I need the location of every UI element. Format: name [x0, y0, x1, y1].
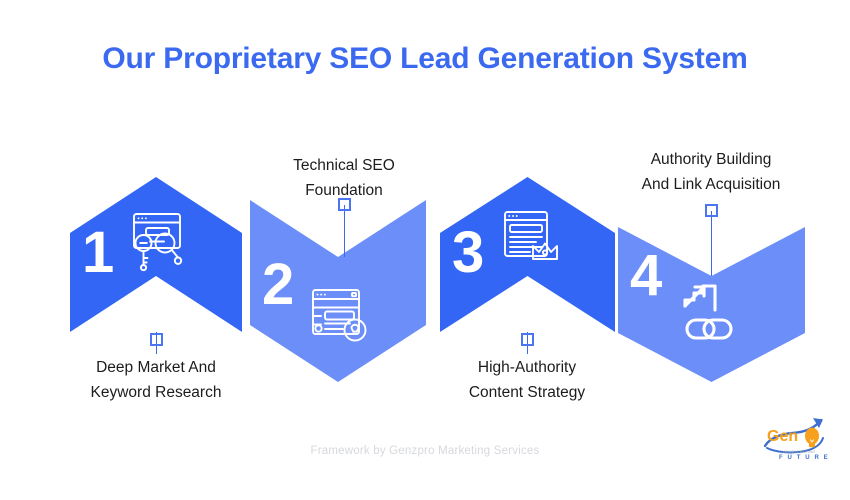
step-caption-2: Technical SEO Foundation — [224, 153, 464, 203]
step-number-3: 3 — [452, 224, 484, 282]
step-caption-3-line2: Content Strategy — [407, 380, 647, 405]
step-caption-2-line1: Technical SEO — [224, 153, 464, 178]
connector-cap-3 — [521, 333, 534, 346]
step-caption-4-line2: And Link Acquisition — [591, 172, 831, 197]
connector-line-4 — [711, 211, 712, 276]
step-caption-4-line1: Authority Building — [591, 147, 831, 172]
genzpro-logo: Gen ACCELERATING F U T U R E — [753, 408, 841, 464]
browser-key-magnifier-icon — [125, 210, 189, 274]
logo-tagline-text: ACCELERATING — [783, 450, 816, 454]
step-number-2: 2 — [262, 256, 294, 314]
step-3: 3 — [440, 177, 615, 332]
connector-cap-1 — [150, 333, 163, 346]
step-number-1: 1 — [82, 224, 114, 282]
step-caption-1-line2: Keyword Research — [36, 380, 276, 405]
footer-note: Framework by Genzpro Marketing Services — [0, 445, 850, 457]
step-caption-1: Deep Market And Keyword Research — [36, 355, 276, 405]
connector-cap-4 — [705, 204, 718, 217]
page-title: Our Proprietary SEO Lead Generation Syst… — [0, 42, 850, 76]
step-1: 1 — [70, 177, 242, 332]
logo-wordmark-text: F U T U R E — [779, 455, 829, 461]
article-crown-icon — [498, 207, 562, 271]
browser-lightbulb-icon — [307, 285, 371, 349]
step-caption-2-line2: Foundation — [224, 178, 464, 203]
step-caption-3-line1: High-Authority — [407, 355, 647, 380]
step-caption-1-line1: Deep Market And — [36, 355, 276, 380]
logo-brand-text: Gen — [767, 428, 798, 445]
step-caption-3: High-Authority Content Strategy — [407, 355, 647, 405]
step-number-4: 4 — [630, 247, 662, 305]
step-2: 2 — [250, 200, 426, 382]
connector-line-2 — [344, 205, 345, 257]
chain-link-growth-icon — [676, 277, 742, 343]
infographic-canvas: Our Proprietary SEO Lead Generation Syst… — [0, 0, 850, 500]
step-caption-4: Authority Building And Link Acquisition — [591, 147, 831, 197]
